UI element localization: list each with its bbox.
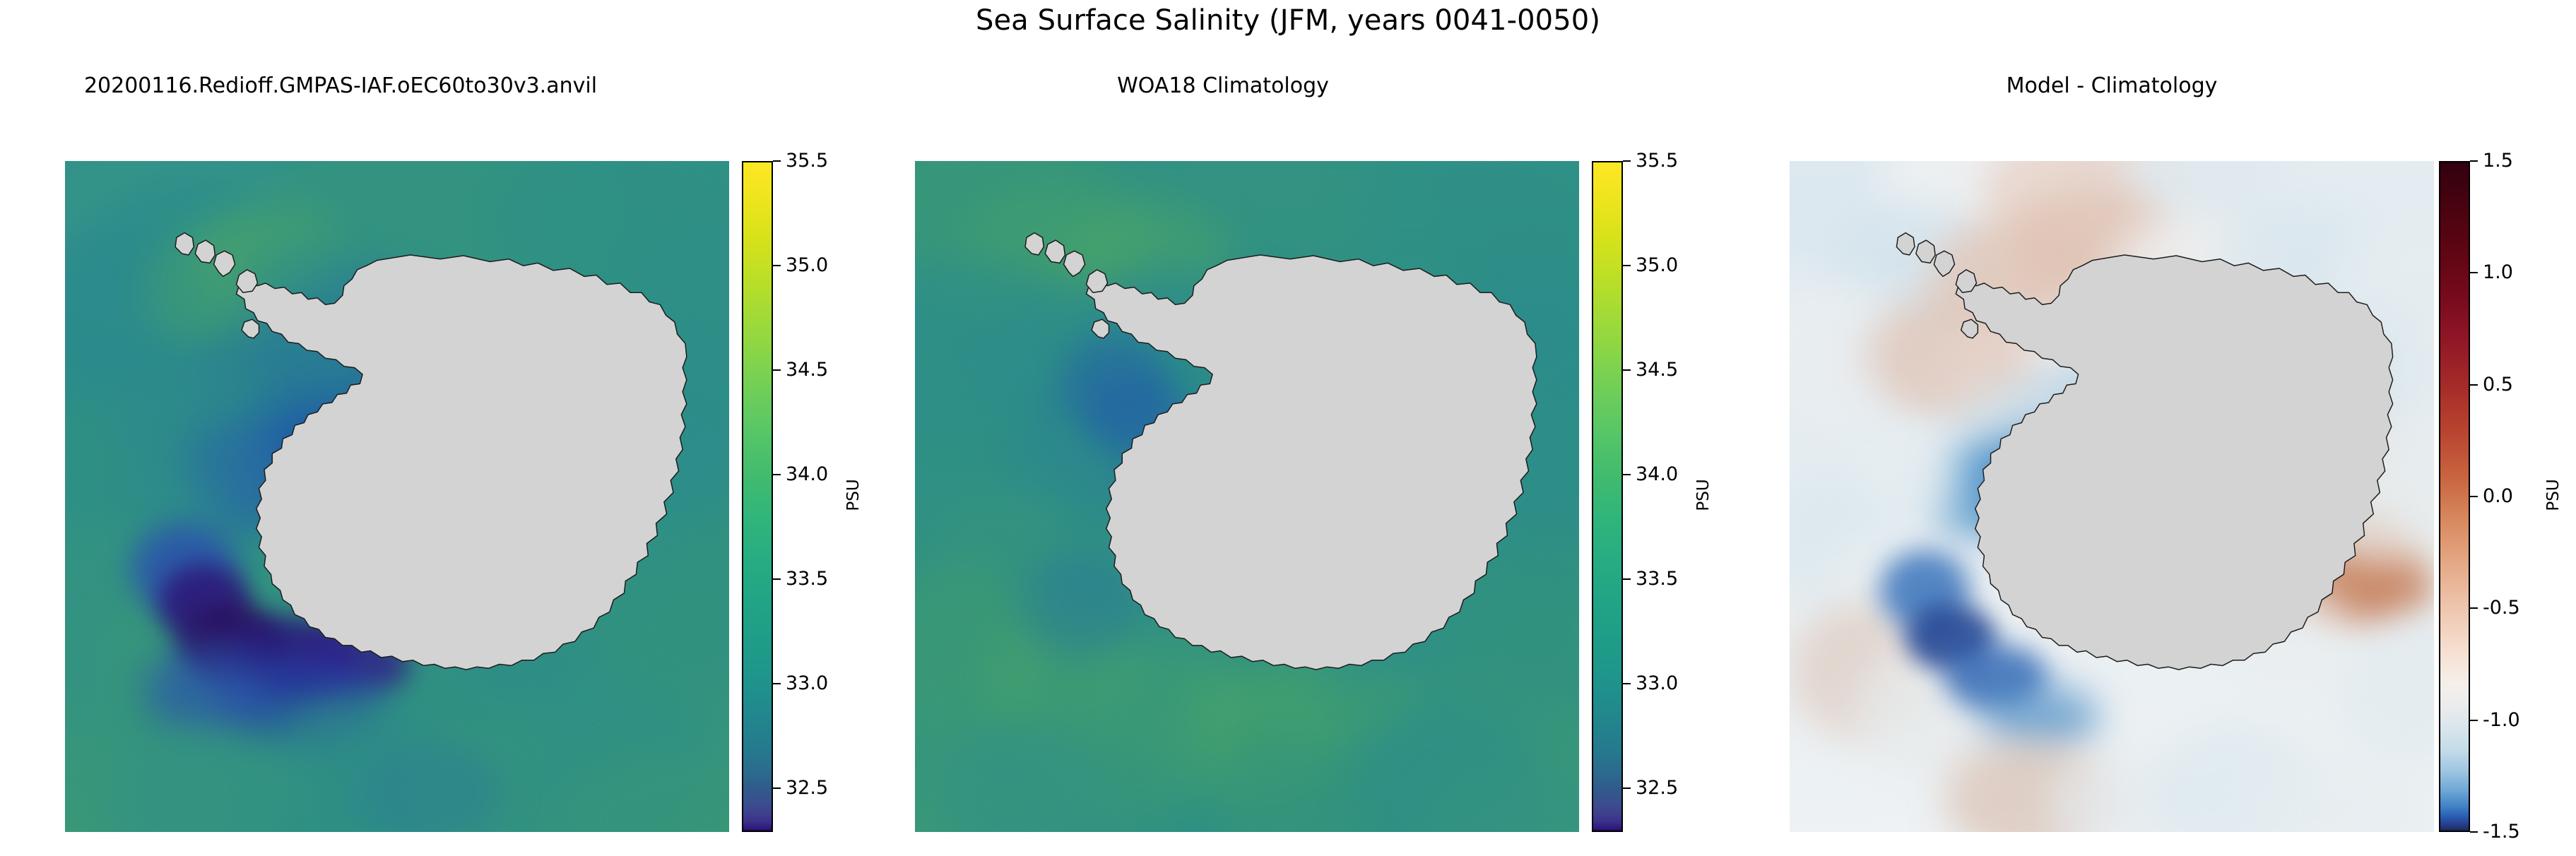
colorbar-model: [742, 161, 773, 832]
map-panel-difference[interactable]: [1790, 161, 2434, 832]
tick-mark: [2470, 720, 2478, 721]
tick-label: 1.0: [2483, 261, 2513, 283]
tick-mark: [773, 683, 781, 684]
map-panel-climatology[interactable]: [915, 161, 1579, 832]
panel-title-climatology: WOA18 Climatology: [891, 73, 1555, 98]
figure-canvas: Sea Surface Salinity (JFM, years 0041-00…: [0, 0, 2576, 856]
tick-mark: [773, 578, 781, 580]
tick-label: -1.0: [2483, 709, 2520, 731]
map-panel-model[interactable]: [65, 161, 729, 832]
tick-mark: [1623, 787, 1631, 789]
colorbar-label-climatology: PSU: [1694, 474, 1713, 516]
antarctica-landmass-difference: [1790, 161, 2434, 832]
tick-label: 1.5: [2483, 150, 2513, 172]
tick-label: 33.5: [1636, 568, 1678, 590]
antarctica-landmass-climatology: [915, 161, 1579, 832]
tick-mark: [1623, 578, 1631, 580]
tick-label: -1.5: [2483, 821, 2520, 843]
tick-mark: [1623, 683, 1631, 684]
tick-label: 32.5: [786, 777, 828, 799]
antarctica-landmass-model: [65, 161, 729, 832]
tick-label: 34.5: [786, 359, 828, 381]
tick-label: 35.0: [1636, 254, 1678, 276]
tick-label: 35.5: [786, 150, 828, 172]
tick-label: 33.0: [786, 672, 828, 694]
panel-title-model: 20200116.Redioff.GMPAS-IAF.oEC60to30v3.a…: [0, 73, 681, 98]
tick-label: 33.0: [1636, 672, 1678, 694]
tick-mark: [2470, 384, 2478, 386]
tick-label: 35.0: [786, 254, 828, 276]
tick-label: 34.5: [1636, 359, 1678, 381]
tick-mark: [773, 265, 781, 266]
tick-mark: [1623, 474, 1631, 475]
colorbar-label-difference: PSU: [2544, 474, 2563, 516]
tick-label: 33.5: [786, 568, 828, 590]
tick-label: 0.5: [2483, 374, 2513, 396]
tick-mark: [2470, 496, 2478, 497]
colorbar-difference: [2439, 161, 2470, 832]
tick-label: -0.5: [2483, 597, 2520, 619]
figure-title: Sea Surface Salinity (JFM, years 0041-00…: [0, 4, 2576, 37]
tick-mark: [773, 787, 781, 789]
tick-mark: [773, 160, 781, 162]
tick-mark: [1623, 369, 1631, 371]
tick-label: 34.0: [786, 463, 828, 485]
tick-mark: [2470, 272, 2478, 273]
tick-mark: [2470, 160, 2478, 162]
tick-label: 34.0: [1636, 463, 1678, 485]
tick-mark: [2470, 607, 2478, 609]
tick-mark: [773, 369, 781, 371]
tick-label: 32.5: [1636, 777, 1678, 799]
tick-mark: [2470, 831, 2478, 833]
tick-label: 0.0: [2483, 485, 2513, 507]
tick-mark: [773, 474, 781, 475]
tick-mark: [1623, 265, 1631, 266]
panel-title-difference: Model - Climatology: [1790, 73, 2434, 98]
colorbar-climatology: [1592, 161, 1623, 832]
tick-mark: [1623, 160, 1631, 162]
colorbar-label-model: PSU: [844, 474, 863, 516]
tick-label: 35.5: [1636, 150, 1678, 172]
